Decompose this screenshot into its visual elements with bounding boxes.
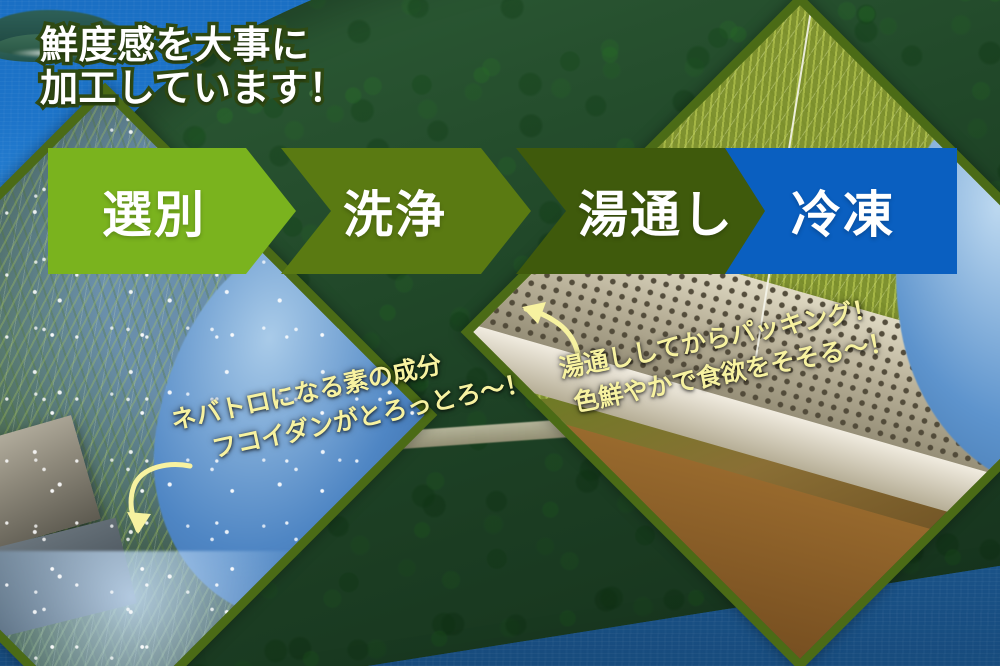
step-chevron-selection[interactable]: 選別 <box>48 148 296 274</box>
banner-stage: 鮮度感を大事に 加工しています！ 選別 洗浄 湯通し 冷凍 ネバトロになる素の成… <box>0 0 1000 666</box>
step-chevron-washing[interactable]: 洗浄 <box>281 148 531 274</box>
process-step-banner: 選別 洗浄 湯通し 冷凍 <box>0 148 1000 274</box>
step-label-2: 洗浄 <box>343 175 447 247</box>
step-label-4: 冷凍 <box>791 175 895 247</box>
step-label-3: 湯通し <box>578 175 734 247</box>
step-label-1: 選別 <box>102 175 206 247</box>
page-title: 鮮度感を大事に 加工しています！ <box>40 24 347 111</box>
